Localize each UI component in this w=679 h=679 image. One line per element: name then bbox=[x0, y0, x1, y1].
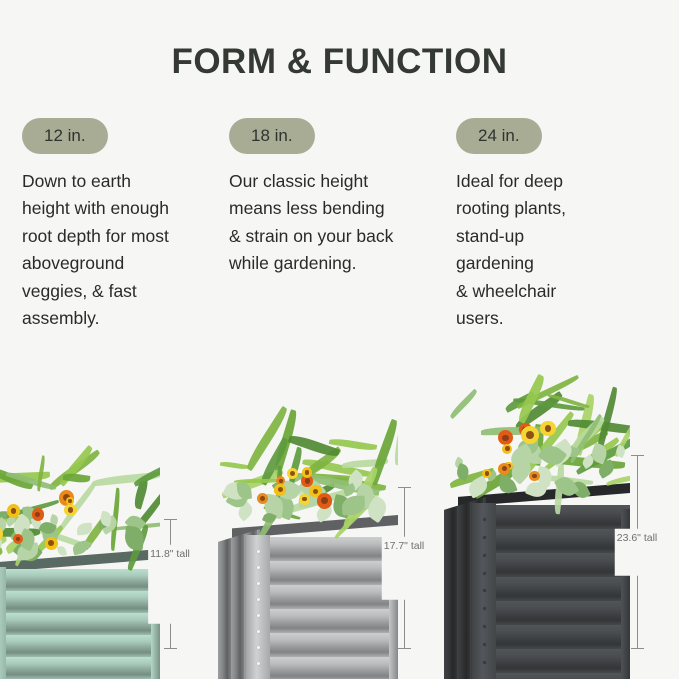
plant-leaf bbox=[21, 505, 38, 525]
plant-frond bbox=[234, 479, 282, 483]
plant-frond bbox=[369, 419, 398, 486]
plant-leaf bbox=[49, 514, 60, 526]
plant-blossom bbox=[482, 469, 491, 478]
plant-frond bbox=[516, 374, 548, 424]
plant-frond bbox=[574, 433, 630, 475]
plant-leaf bbox=[486, 470, 499, 482]
plant-frond bbox=[328, 437, 376, 451]
raised-garden-bed-12in bbox=[0, 551, 160, 679]
bed-corner-post-12in bbox=[0, 567, 6, 679]
plant-frond bbox=[0, 471, 50, 483]
dimension-label-12in: 11.8" tall bbox=[148, 544, 192, 624]
plant-blossom bbox=[498, 463, 510, 475]
plant-leaf bbox=[271, 480, 284, 494]
product-photo-24in bbox=[444, 349, 630, 679]
plant-frond bbox=[81, 516, 110, 550]
height-badge-12in: 12 in. bbox=[22, 118, 108, 154]
plant-frond bbox=[57, 445, 94, 486]
plant-blossom bbox=[519, 423, 532, 436]
plant-frond bbox=[6, 470, 57, 492]
plant-leaf bbox=[17, 528, 38, 551]
plant-leaf bbox=[226, 489, 249, 510]
plant-leaf bbox=[596, 458, 617, 478]
plant-frond bbox=[568, 417, 630, 436]
plant-frond bbox=[302, 471, 380, 499]
plant-leaf bbox=[302, 483, 313, 493]
raised-garden-bed-24in bbox=[444, 485, 630, 679]
feature-column-18in: 18 in. Our classic height means less ben… bbox=[229, 118, 429, 278]
bed-corner-post-18in bbox=[246, 535, 270, 679]
plant-blossom bbox=[521, 426, 539, 444]
plant-blossom bbox=[257, 493, 268, 504]
bed-rivet bbox=[483, 536, 486, 539]
plant-blossom bbox=[302, 467, 313, 478]
infographic-page: FORM & FUNCTION 12 in. Down to earth hei… bbox=[0, 0, 679, 679]
bed-rivet bbox=[257, 614, 260, 617]
plant-blossom bbox=[309, 485, 321, 497]
plant-foliage-24in bbox=[444, 375, 630, 499]
plant-frond bbox=[539, 422, 608, 475]
plant-frond bbox=[522, 411, 576, 474]
feature-description-12in: Down to earth height with enough root de… bbox=[22, 168, 222, 333]
bed-rivet bbox=[257, 646, 260, 649]
plant-leaf bbox=[4, 515, 16, 527]
plant-frond bbox=[126, 492, 160, 540]
plant-leaf bbox=[331, 494, 352, 518]
plant-frond bbox=[288, 446, 305, 484]
plant-leaf bbox=[124, 525, 145, 550]
bed-rivet bbox=[483, 625, 486, 628]
plant-blossom bbox=[529, 471, 539, 481]
plant-frond bbox=[568, 414, 603, 464]
bed-front-panel-24in bbox=[474, 505, 630, 679]
plant-blossom bbox=[13, 534, 24, 545]
plant-frond bbox=[516, 375, 580, 409]
bed-rivet bbox=[257, 582, 260, 585]
plant-blossom bbox=[276, 476, 285, 485]
plant-leaf bbox=[76, 523, 92, 536]
feature-description-24in: Ideal for deep rooting plants, stand-up … bbox=[456, 168, 656, 333]
plant-frond bbox=[289, 472, 357, 481]
plant-frond bbox=[271, 409, 299, 476]
bed-rivet bbox=[257, 630, 260, 633]
plant-frond bbox=[108, 521, 160, 531]
plant-frond bbox=[448, 389, 478, 419]
plant-leaf bbox=[518, 439, 538, 455]
plant-blossom bbox=[498, 430, 513, 445]
plant-frond bbox=[244, 406, 291, 472]
feature-description-18in: Our classic height means less bending & … bbox=[229, 168, 429, 278]
plant-leaf bbox=[38, 519, 57, 537]
plant-blossom bbox=[317, 493, 333, 509]
plant-leaf bbox=[10, 513, 35, 538]
plant-frond bbox=[504, 391, 536, 413]
plant-leaf bbox=[548, 452, 564, 466]
plant-leaf bbox=[125, 512, 147, 534]
plant-blossom bbox=[301, 475, 313, 487]
bed-rivet bbox=[483, 607, 486, 610]
height-badge-24in: 24 in. bbox=[456, 118, 542, 154]
plant-leaf bbox=[453, 456, 465, 469]
plant-leaf bbox=[237, 481, 252, 499]
plant-frond bbox=[613, 402, 630, 457]
plant-frond bbox=[0, 464, 34, 492]
bed-rivet bbox=[257, 598, 260, 601]
plant-blossom bbox=[287, 468, 298, 479]
bed-corner-post-24in bbox=[472, 503, 496, 679]
plant-leaf bbox=[341, 483, 357, 497]
plant-frond bbox=[258, 437, 291, 486]
plant-frond bbox=[132, 476, 150, 510]
plant-leaf bbox=[295, 481, 317, 502]
plant-frond bbox=[581, 437, 620, 465]
product-photo-strip: 11.8" tall 17.7" tall bbox=[0, 330, 679, 679]
plant-leaf bbox=[98, 515, 119, 535]
plant-frond bbox=[0, 500, 59, 523]
plant-leaf bbox=[565, 445, 580, 458]
bed-rivet bbox=[483, 554, 486, 557]
plant-frond bbox=[595, 387, 620, 454]
plant-leaf bbox=[263, 493, 285, 519]
plant-leaf bbox=[273, 476, 302, 504]
plant-leaf bbox=[31, 516, 43, 530]
plant-frond bbox=[36, 455, 47, 492]
plant-blossom bbox=[64, 504, 76, 516]
plant-frond bbox=[301, 482, 336, 501]
plant-frond bbox=[392, 405, 398, 466]
page-title: FORM & FUNCTION bbox=[0, 44, 679, 79]
plant-frond bbox=[548, 453, 625, 470]
plant-blossom bbox=[32, 508, 44, 520]
plant-leaf bbox=[507, 444, 536, 472]
feature-column-24in: 24 in. Ideal for deep rooting plants, st… bbox=[456, 118, 656, 333]
dimension-label-24in: 23.6" tall bbox=[615, 528, 660, 576]
plant-leaf bbox=[535, 466, 554, 487]
plant-leaf bbox=[303, 487, 317, 500]
plant-frond bbox=[341, 458, 387, 468]
bed-rivet bbox=[483, 518, 486, 521]
height-badge-18in: 18 in. bbox=[229, 118, 315, 154]
bed-rivet bbox=[257, 566, 260, 569]
feature-column-12in: 12 in. Down to earth height with enough … bbox=[22, 118, 222, 333]
plant-frond bbox=[572, 394, 597, 457]
bed-rivet bbox=[257, 550, 260, 553]
plant-frond bbox=[569, 415, 607, 452]
plant-leaf bbox=[298, 490, 319, 507]
plant-frond bbox=[0, 536, 7, 552]
plant-leaf bbox=[538, 440, 568, 469]
plant-leaf bbox=[524, 442, 541, 464]
plant-leaf bbox=[0, 517, 9, 534]
product-photo-12in bbox=[0, 379, 160, 679]
plant-frond bbox=[109, 489, 121, 552]
plant-frond bbox=[530, 424, 545, 466]
plant-frond bbox=[220, 468, 284, 498]
plant-blossom bbox=[504, 462, 513, 471]
plant-leaf bbox=[298, 475, 327, 504]
plant-foliage-18in bbox=[218, 417, 398, 529]
plant-frond bbox=[275, 466, 283, 503]
plant-frond bbox=[282, 486, 356, 514]
bed-rivets-18in bbox=[257, 543, 260, 671]
plant-leaf bbox=[222, 478, 250, 504]
plant-frond bbox=[220, 460, 250, 469]
plant-frond bbox=[280, 460, 330, 489]
plant-leaf bbox=[97, 519, 109, 530]
plant-leaf bbox=[99, 510, 114, 527]
plant-leaf bbox=[507, 456, 536, 485]
bed-rivet bbox=[483, 572, 486, 575]
bed-front-panel-18in bbox=[248, 537, 398, 679]
plant-frond bbox=[513, 391, 565, 431]
plant-frond bbox=[554, 430, 609, 462]
plant-frond bbox=[92, 471, 160, 486]
plant-leaf bbox=[580, 454, 596, 469]
plant-blossom bbox=[66, 497, 74, 505]
bed-rivet bbox=[257, 662, 260, 665]
plant-blossom bbox=[0, 526, 3, 542]
plant-frond bbox=[133, 455, 160, 487]
plant-leaf bbox=[356, 490, 374, 509]
dimension-label-18in: 17.7" tall bbox=[382, 536, 427, 600]
plant-frond bbox=[40, 527, 90, 550]
plant-frond bbox=[8, 516, 35, 541]
plant-leaf bbox=[589, 442, 609, 464]
bed-rivet bbox=[483, 589, 486, 592]
plant-frond bbox=[481, 427, 548, 436]
plant-frond bbox=[47, 450, 102, 491]
bed-rivet bbox=[483, 643, 486, 646]
plant-frond bbox=[63, 472, 91, 484]
plant-leaf bbox=[40, 522, 60, 545]
plant-blossom bbox=[540, 421, 555, 436]
bed-rivet bbox=[483, 661, 486, 664]
plant-frond bbox=[288, 432, 341, 458]
plant-frond bbox=[57, 481, 98, 531]
plant-frond bbox=[0, 528, 39, 539]
plant-blossom bbox=[7, 504, 20, 517]
plant-frond bbox=[547, 392, 589, 409]
plant-frond bbox=[330, 474, 387, 493]
plant-blossom bbox=[274, 484, 285, 495]
plant-frond bbox=[302, 456, 371, 480]
plant-leaf bbox=[546, 438, 577, 468]
plant-frond bbox=[300, 447, 344, 481]
plant-leaf bbox=[80, 540, 93, 552]
plant-leaf bbox=[0, 511, 8, 521]
plant-blossom bbox=[299, 494, 310, 505]
bed-front-panel-12in bbox=[0, 569, 160, 679]
plant-frond bbox=[349, 497, 378, 512]
product-photo-18in bbox=[218, 367, 398, 679]
plant-frond bbox=[513, 397, 585, 413]
plant-leaf bbox=[353, 482, 378, 510]
plant-leaf bbox=[614, 444, 626, 457]
plant-frond bbox=[4, 516, 43, 522]
bed-rivets-24in bbox=[483, 511, 486, 671]
plant-leaf bbox=[454, 463, 471, 482]
plant-leaf bbox=[345, 469, 367, 491]
plant-leaf bbox=[342, 495, 366, 515]
plant-blossom bbox=[45, 537, 58, 550]
plant-blossom bbox=[59, 490, 75, 506]
raised-garden-bed-18in bbox=[218, 517, 398, 679]
plant-foliage-12in bbox=[0, 451, 160, 561]
plant-blossom bbox=[502, 444, 512, 454]
